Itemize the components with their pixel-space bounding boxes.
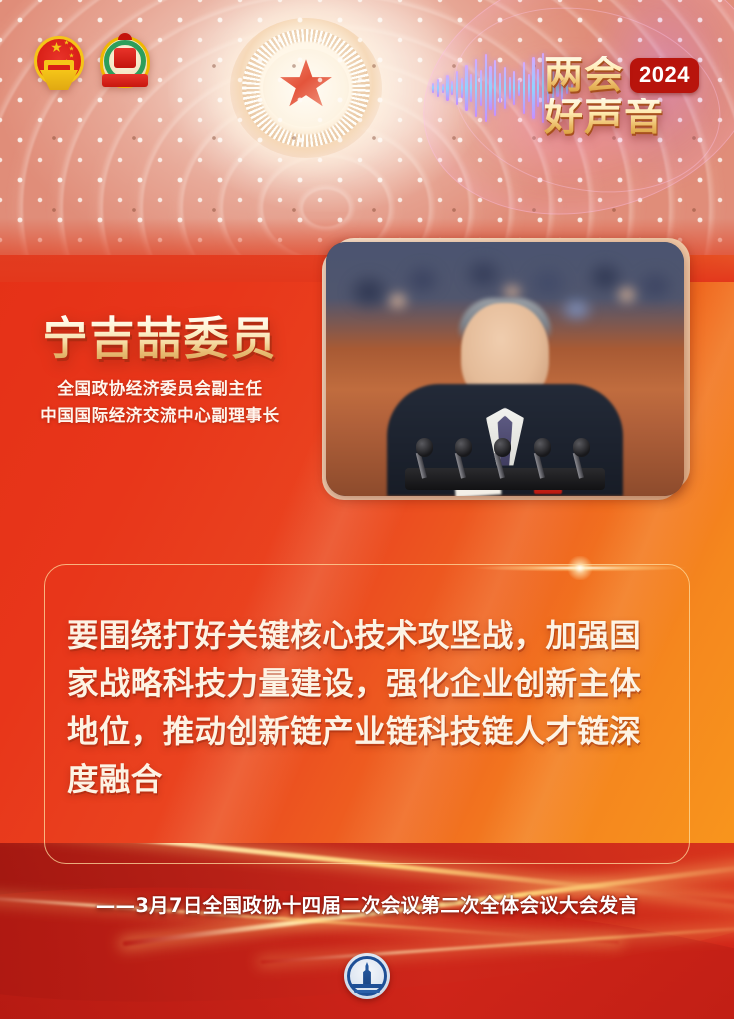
speaker-title-line-1: 全国政协经济委员会副主任: [0, 376, 320, 402]
speaker-info-block: 宁吉喆委员 全国政协经济委员会副主任 中国国际经济交流中心副理事长: [0, 315, 320, 429]
national-emblem-icon: [32, 34, 86, 96]
logo-top-row: 两会 2024: [544, 56, 710, 95]
emblem-group: [32, 34, 152, 96]
logo-lianghui-text: 两会: [544, 56, 624, 95]
quote-box: 要围绕打好关键核心技术攻坚战，加强国家战略科技力量建设，强化企业创新主体地位，推…: [44, 564, 690, 864]
footer-band: ——3月7日全国政协十四届二次会议第二次全体会议大会发言: [0, 843, 734, 1019]
speaker-photo: [326, 242, 684, 496]
cppcc-round-emblem-icon: [344, 953, 390, 999]
speaker-name: 宁吉喆委员: [0, 315, 320, 362]
program-logo: 两会 2024 好声音: [544, 56, 710, 137]
speaker-title-line-2: 中国国际经济交流中心副理事长: [0, 403, 320, 429]
speaker-titles: 全国政协经济委员会副主任 中国国际经济交流中心副理事长: [0, 376, 320, 429]
microphone-icon: [494, 438, 511, 478]
microphone-icon: [455, 438, 472, 478]
footer-caption: ——3月7日全国政协十四届二次会议第二次全体会议大会发言: [0, 889, 734, 918]
poster-root: 两会 2024 好声音 宁吉喆委员 全国政协经济委员会副主任 中国国际经济交流中…: [0, 0, 734, 1019]
logo-haoshengyin-text: 好声音: [544, 98, 710, 137]
speaker-photo-container: [322, 238, 690, 500]
microphone-icon: [416, 438, 433, 478]
microphone-icon: [534, 438, 551, 478]
cppcc-emblem-icon: [98, 34, 152, 96]
quote-text: 要围绕打好关键核心技术攻坚战，加强国家战略科技力量建设，强化企业创新主体地位，推…: [67, 613, 671, 805]
microphone-icon: [573, 438, 590, 478]
logo-year-badge: 2024: [630, 58, 699, 93]
